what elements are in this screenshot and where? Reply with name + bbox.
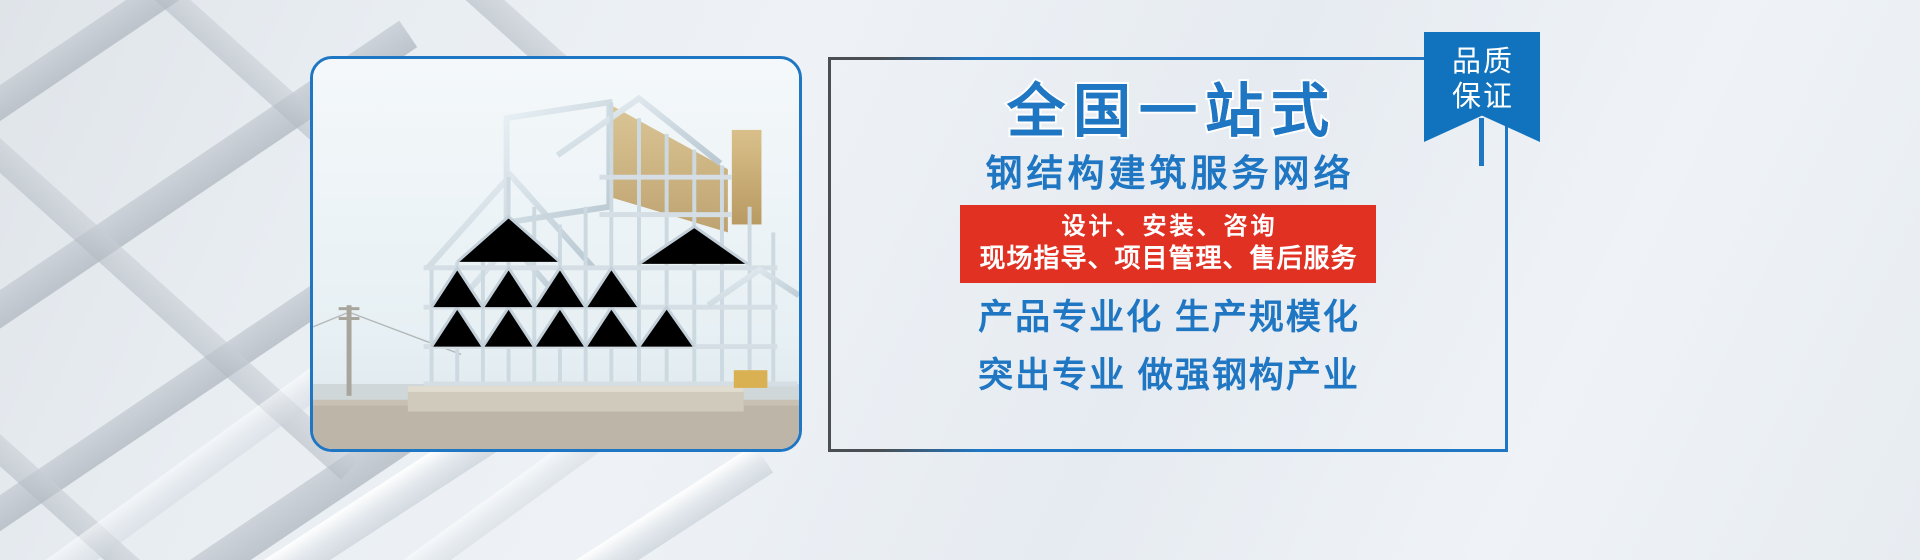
construction-photo [310, 56, 802, 452]
promo-text-block: 全国一站式 全国一站式 钢结构建筑服务网络 设计、安装、咨询 现场指导、项目管理… [828, 57, 1508, 452]
slogan-line-2: 突出专业 做强钢构产业 [976, 353, 1360, 399]
headline-wrapper: 全国一站式 全国一站式 [999, 57, 1337, 141]
quality-badge-line-2: 保证 [1450, 80, 1514, 115]
headline-fill: 全国一站式 [999, 83, 1337, 141]
quality-badge-line-1: 品质 [1450, 45, 1514, 80]
promo-banner: 全国一站式 全国一站式 钢结构建筑服务网络 设计、安装、咨询 现场指导、项目管理… [0, 0, 1920, 560]
ribbon-tail [1479, 118, 1484, 166]
services-highlight-box: 设计、安装、咨询 现场指导、项目管理、售后服务 [960, 205, 1376, 283]
steel-frame-house-image [313, 59, 799, 449]
services-line-1: 设计、安装、咨询 [1059, 212, 1278, 242]
subheadline: 钢结构建筑服务网络 [982, 155, 1355, 192]
services-line-2: 现场指导、项目管理、售后服务 [978, 242, 1357, 274]
slogan-line-1: 产品专业化 生产规模化 [976, 295, 1360, 341]
